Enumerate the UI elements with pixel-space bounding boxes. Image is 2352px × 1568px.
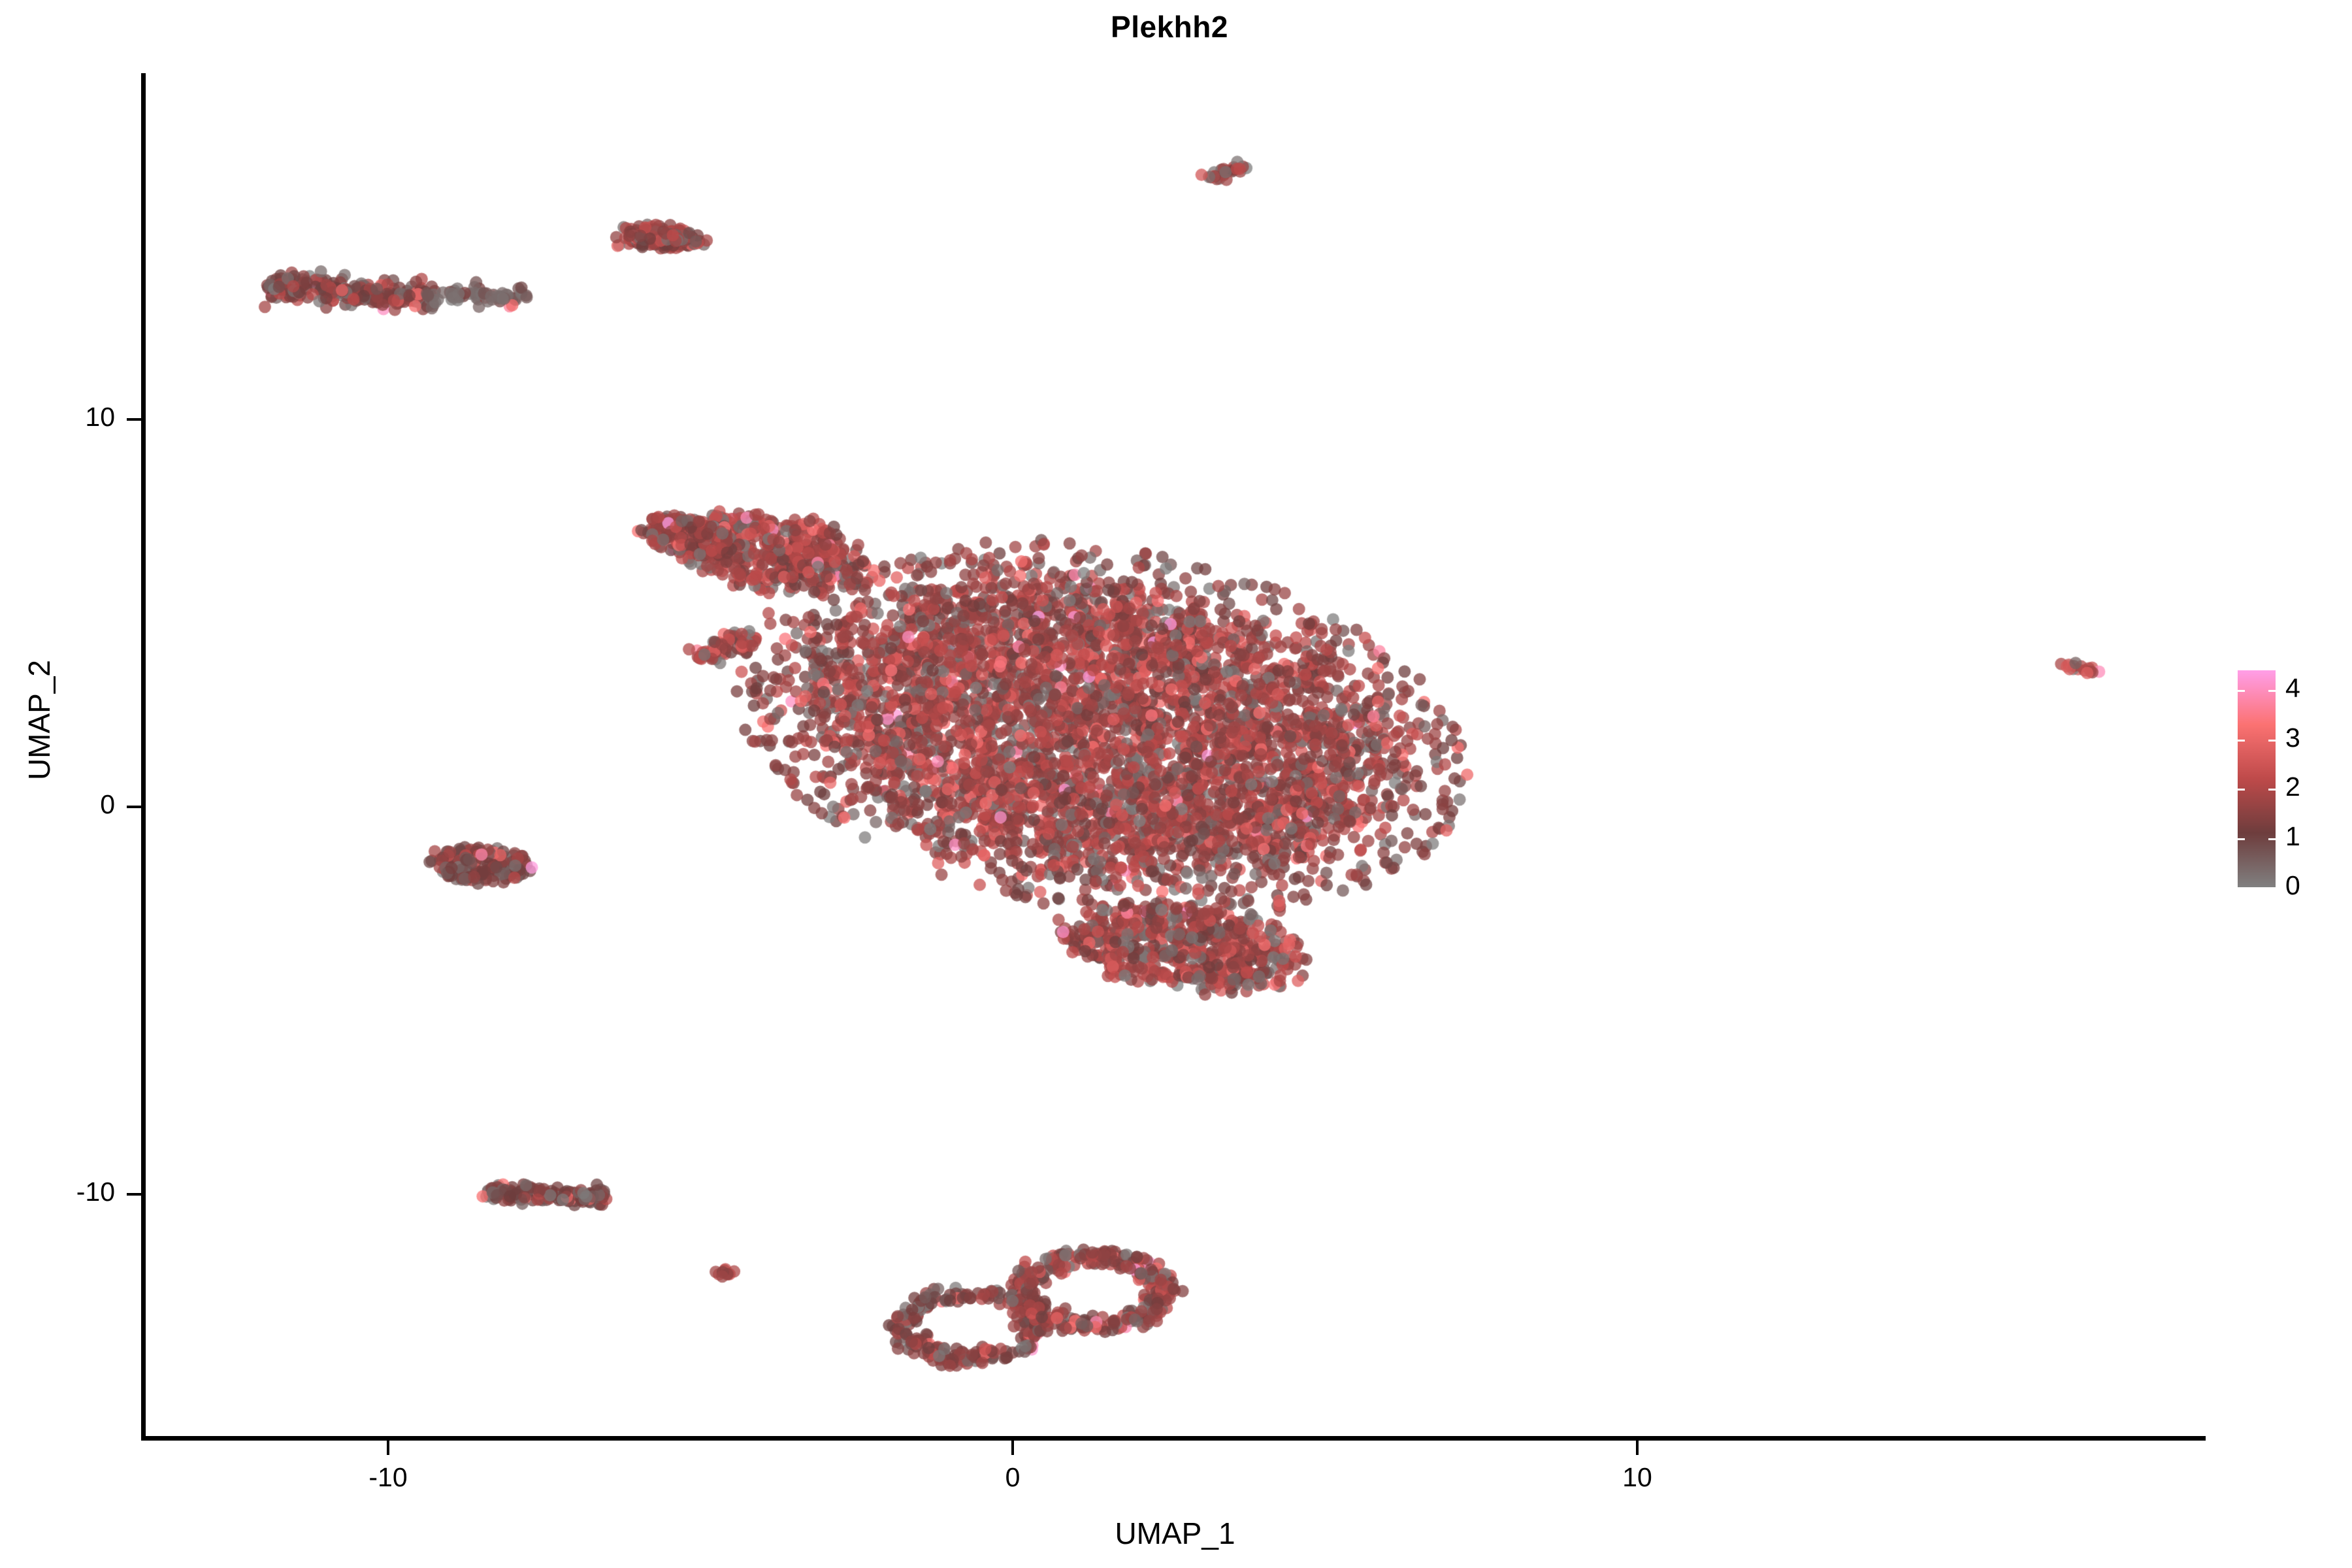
x-axis-line bbox=[141, 1436, 2206, 1441]
x-tick-label: 10 bbox=[1572, 1462, 1703, 1493]
x-tick-mark bbox=[1636, 1441, 1639, 1455]
y-tick-mark bbox=[127, 806, 141, 808]
y-tick-mark bbox=[127, 418, 141, 421]
page-title: Plekhh2 bbox=[0, 9, 2339, 44]
y-tick-label: 0 bbox=[0, 789, 115, 820]
x-axis-title: UMAP_1 bbox=[145, 1516, 2205, 1551]
x-tick-mark bbox=[387, 1441, 389, 1455]
colorbar-tick bbox=[2238, 690, 2276, 692]
colorbar-tick bbox=[2238, 838, 2276, 840]
colorbar-gradient bbox=[2238, 670, 2276, 887]
plot-panel bbox=[145, 73, 2205, 1439]
y-axis-line bbox=[141, 73, 146, 1441]
x-tick-label: 0 bbox=[947, 1462, 1078, 1493]
colorbar-tick-label: 2 bbox=[2285, 772, 2325, 802]
colorbar-tick-label: 0 bbox=[2285, 870, 2325, 901]
colorbar-tick-label: 4 bbox=[2285, 673, 2325, 704]
y-tick-mark bbox=[127, 1193, 141, 1196]
colorbar-tick bbox=[2238, 740, 2276, 742]
colorbar-tick-label: 3 bbox=[2285, 723, 2325, 753]
legend-colorbar: 43210 bbox=[2234, 665, 2332, 894]
y-tick-label: -10 bbox=[0, 1177, 115, 1207]
scatter-canvas bbox=[145, 73, 2205, 1439]
y-tick-label: 10 bbox=[0, 402, 115, 433]
colorbar-tick bbox=[2238, 887, 2276, 889]
plot-root: Plekhh2 -10010 100-10 UMAP_1 UMAP_2 4321… bbox=[0, 0, 2352, 1568]
x-tick-mark bbox=[1011, 1441, 1014, 1455]
y-axis-title: UMAP_2 bbox=[22, 524, 57, 916]
colorbar-tick bbox=[2238, 789, 2276, 791]
x-tick-label: -10 bbox=[323, 1462, 453, 1493]
colorbar-tick-label: 1 bbox=[2285, 821, 2325, 852]
